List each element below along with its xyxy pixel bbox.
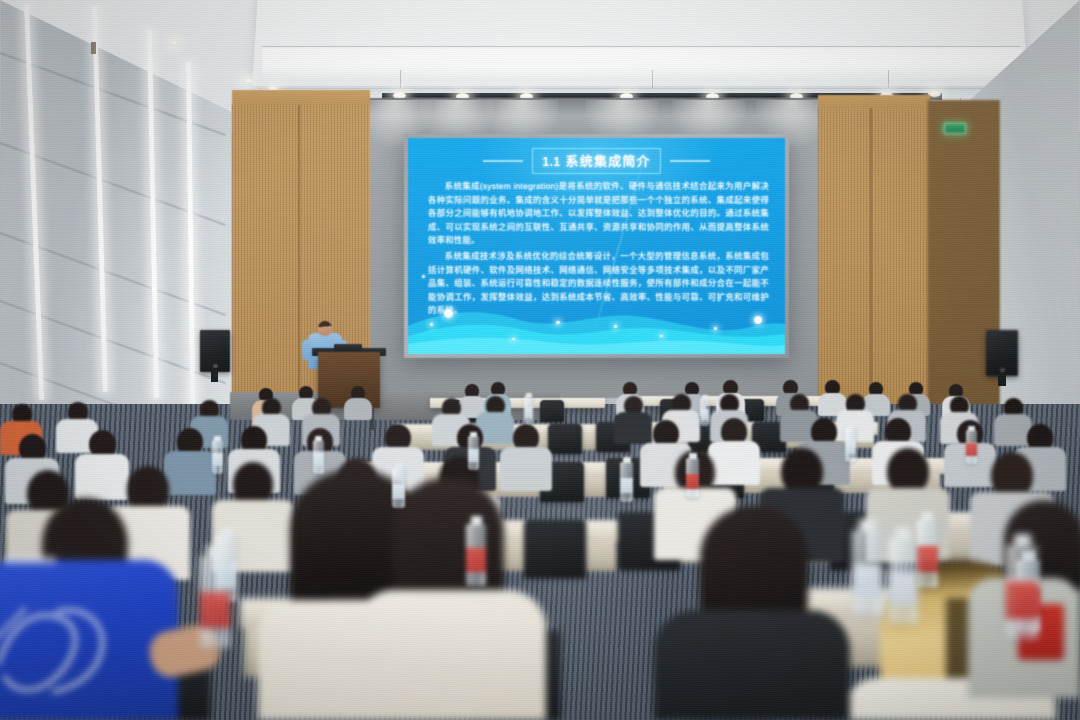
presenter-head [318, 321, 332, 336]
conference-room-photo: 1.1 系统集成简介 系统集成(system integration)是将系统的… [0, 0, 1080, 720]
slide-title-box: 1.1 系统集成简介 [532, 148, 660, 174]
chair [524, 520, 586, 578]
slide-bullet-dot [422, 275, 425, 278]
ceiling-downlight [169, 40, 179, 46]
ceiling-edge-line [258, 88, 1024, 89]
water-bottle [524, 396, 533, 424]
wall-speaker-right [986, 330, 1018, 376]
wood-panel-right [818, 108, 930, 413]
water-bottle [916, 520, 938, 588]
water-bottle [620, 462, 633, 502]
slide-wave-graphic [408, 292, 785, 354]
water-bottle [212, 440, 223, 474]
water-bottle [852, 530, 882, 616]
title-rule-right [670, 160, 710, 162]
water-bottle [466, 524, 486, 586]
slide-spark [660, 335, 663, 338]
water-bottle [700, 398, 709, 426]
ceiling-downlight [243, 78, 253, 84]
slide-spark [754, 316, 762, 324]
water-bottle [686, 458, 699, 498]
attendee-body [356, 590, 546, 720]
ceiling-wire [400, 70, 401, 88]
water-bottle [468, 436, 479, 470]
exit-sign-icon [944, 123, 966, 134]
wall-fixture [91, 42, 96, 54]
slide-spark [714, 327, 717, 330]
water-bottle [1006, 545, 1038, 639]
slide-spark [430, 323, 433, 326]
slide-title-row: 1.1 系统集成简介 [408, 148, 785, 174]
ceiling-cove-light [262, 48, 1022, 78]
attendee-body [654, 610, 850, 720]
speaker-mount-left [211, 370, 218, 382]
attendee-head [700, 506, 808, 624]
shirt-graphic [0, 592, 170, 712]
slide-title-text: 系统集成简介 [566, 151, 651, 170]
chair [548, 424, 582, 454]
ceiling-wire [888, 70, 889, 88]
water-bottle [200, 556, 230, 648]
slide-paragraph-1: 系统集成(system integration)是将系统的软件、硬件与通信技术结… [428, 180, 769, 248]
water-bottle [392, 468, 405, 508]
title-rule-left [483, 160, 523, 162]
slide-spark [556, 321, 560, 325]
podium-laptop [334, 344, 362, 351]
water-bottle [888, 538, 918, 624]
shirt-text-mark [4, 556, 56, 564]
wall-speaker-left [200, 330, 230, 372]
chair [540, 400, 564, 422]
slide-spark [512, 338, 515, 341]
attendee-head [392, 478, 504, 604]
slide-surface: 1.1 系统集成简介 系统集成(system integration)是将系统的… [408, 138, 785, 354]
water-bottle [845, 428, 856, 462]
presentation-screen: 1.1 系统集成简介 系统集成(system integration)是将系统的… [404, 134, 789, 358]
wood-panel-far-right [928, 100, 1000, 430]
slide-spark [444, 309, 453, 318]
water-bottle [313, 440, 324, 474]
ceiling-wire [652, 70, 653, 88]
slide-title-number: 1.1 [542, 155, 560, 169]
water-bottle [966, 430, 977, 464]
ceiling-edge-line [262, 46, 1020, 47]
speaker-mount-right [998, 374, 1006, 386]
center-wall-shadow [368, 98, 820, 116]
slide-spark [614, 325, 617, 328]
